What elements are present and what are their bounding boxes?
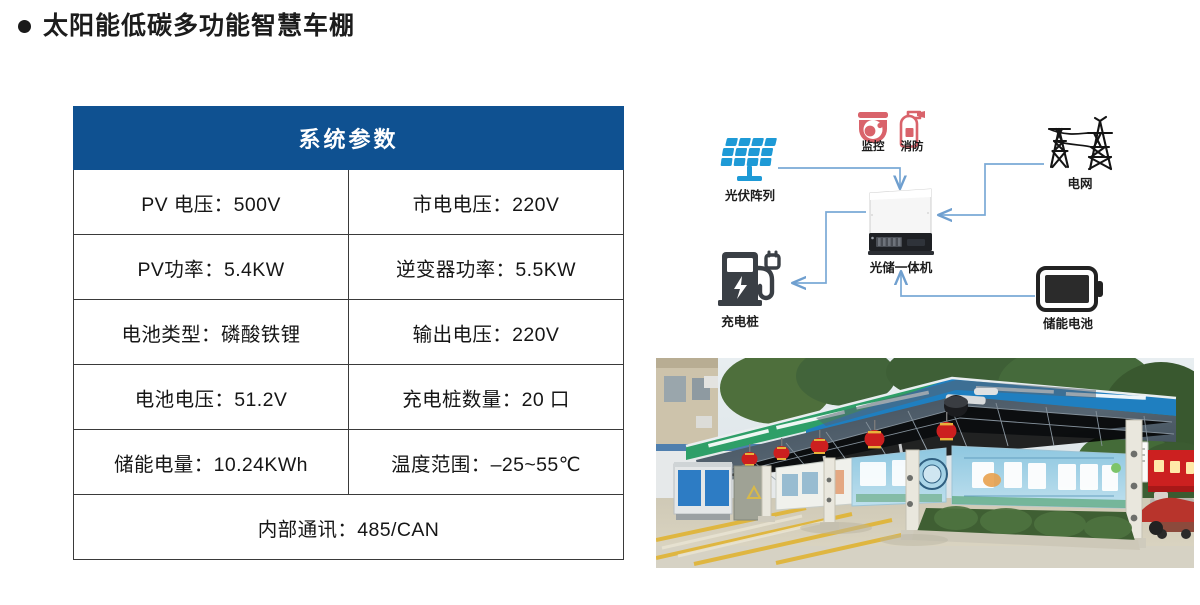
cctv-camera-icon — [858, 112, 888, 143]
storage-battery-label: 储能电池 — [1042, 316, 1094, 331]
charging-pile-label: 充电桩 — [721, 314, 759, 329]
flow-pv-to-inverter — [778, 168, 900, 188]
cell-battery-type: 电池类型：磷酸铁锂 — [74, 300, 349, 365]
pv-array-label: 光伏阵列 — [724, 188, 775, 203]
pv-array-icon — [721, 138, 777, 181]
table-row: 储能电量：10.24KWh 温度范围：–25~55℃ — [74, 430, 624, 495]
transmission-tower-icon — [1049, 117, 1112, 169]
inverter-icon — [868, 189, 934, 255]
page-title: 太阳能低碳多功能智慧车棚 — [18, 14, 355, 39]
page-title-text: 太阳能低碳多功能智慧车棚 — [43, 14, 355, 39]
table-row: 电池电压：51.2V 充电桩数量：20 口 — [74, 365, 624, 430]
solar-carport-photo — [656, 358, 1194, 568]
power-grid-label: 电网 — [1067, 176, 1092, 191]
fire-safety-label: 消防 — [901, 139, 924, 153]
ev-charger-icon — [718, 252, 779, 306]
cell-grid-voltage: 市电电压：220V — [349, 170, 624, 235]
battery-icon — [1038, 268, 1103, 310]
system-architecture-diagram: 光伏阵列 监控 消防 电网 — [650, 100, 1200, 350]
table-row: PV 电压：500V 市电电压：220V — [74, 170, 624, 235]
bullet-icon — [18, 20, 31, 33]
table-row: PV功率：5.4KW 逆变器功率：5.5KW — [74, 235, 624, 300]
cell-battery-voltage: 电池电压：51.2V — [74, 365, 349, 430]
table-row: 内部通讯：485/CAN — [74, 495, 624, 560]
cell-internal-comms: 内部通讯：485/CAN — [74, 495, 624, 560]
cell-pv-voltage: PV 电压：500V — [74, 170, 349, 235]
monitoring-label: 监控 — [862, 139, 885, 153]
system-parameters-table: 系统参数 PV 电压：500V 市电电压：220V PV功率：5.4KW 逆变器… — [73, 106, 624, 560]
table-row: 电池类型：磷酸铁锂 输出电压：220V — [74, 300, 624, 365]
flow-grid-to-inverter — [939, 164, 1044, 215]
cell-storage-capacity: 储能电量：10.24KWh — [74, 430, 349, 495]
table-header-title: 系统参数 — [74, 107, 624, 170]
hybrid-inverter-label: 光储一体机 — [869, 260, 933, 275]
cell-temperature-range: 温度范围：–25~55℃ — [349, 430, 624, 495]
cell-inverter-power: 逆变器功率：5.5KW — [349, 235, 624, 300]
cell-output-voltage: 输出电压：220V — [349, 300, 624, 365]
flow-inverter-to-charger — [793, 212, 866, 283]
flow-battery-to-inverter — [901, 272, 1035, 296]
table-header-row: 系统参数 — [74, 107, 624, 170]
cell-charger-count: 充电桩数量：20 口 — [349, 365, 624, 430]
cell-pv-power: PV功率：5.4KW — [74, 235, 349, 300]
